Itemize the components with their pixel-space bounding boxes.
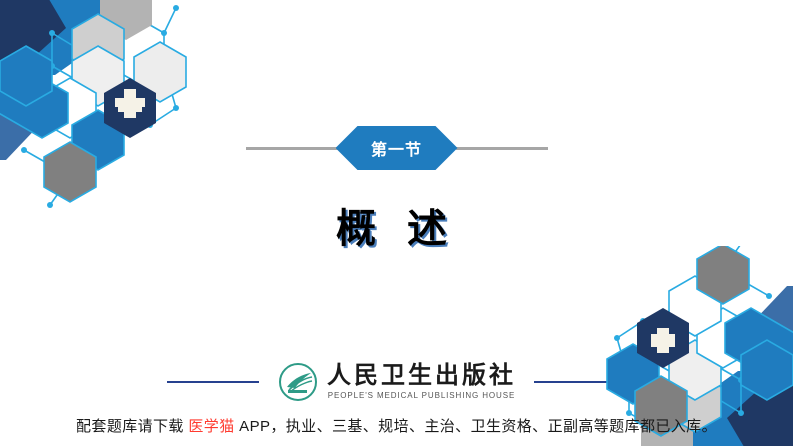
logo-rule-right <box>534 381 626 383</box>
pmph-emblem-icon <box>277 361 319 403</box>
section-label: 第一节 <box>371 136 422 160</box>
promo-banner: 配套题库请下载 医学猫 APP，执业、三基、规培、主治、卫生资格、正副高等题库都… <box>0 415 793 436</box>
promo-prefix: 配套题库请下载 <box>76 418 188 435</box>
publisher-logo-block: 人民卫生出版社 PEOPLE'S MEDICAL PUBLISHING HOUS… <box>0 356 793 408</box>
publisher-logo: 人民卫生出版社 PEOPLE'S MEDICAL PUBLISHING HOUS… <box>277 361 516 403</box>
banner-rule-right <box>456 147 548 150</box>
page-title: 概 述 <box>0 196 793 254</box>
logo-rule-left <box>167 381 259 383</box>
banner-rule-left <box>246 147 338 150</box>
slide-canvas: 第一节 概 述 人民卫生出版社 PEOPLE'S MEDICAL PUBLISH… <box>0 0 793 446</box>
section-banner: 第一节 <box>0 126 793 170</box>
publisher-name-cn: 人民卫生出版社 <box>327 364 516 389</box>
section-chip: 第一节 <box>336 126 458 170</box>
publisher-name-en: PEOPLE'S MEDICAL PUBLISHING HOUSE <box>328 391 515 400</box>
promo-suffix: APP，执业、三基、规培、主治、卫生资格、正副高等题库都已入库。 <box>235 418 717 435</box>
promo-app-name: 医学猫 <box>188 418 234 435</box>
hexagon-network-medical-cross-icon <box>0 0 260 210</box>
